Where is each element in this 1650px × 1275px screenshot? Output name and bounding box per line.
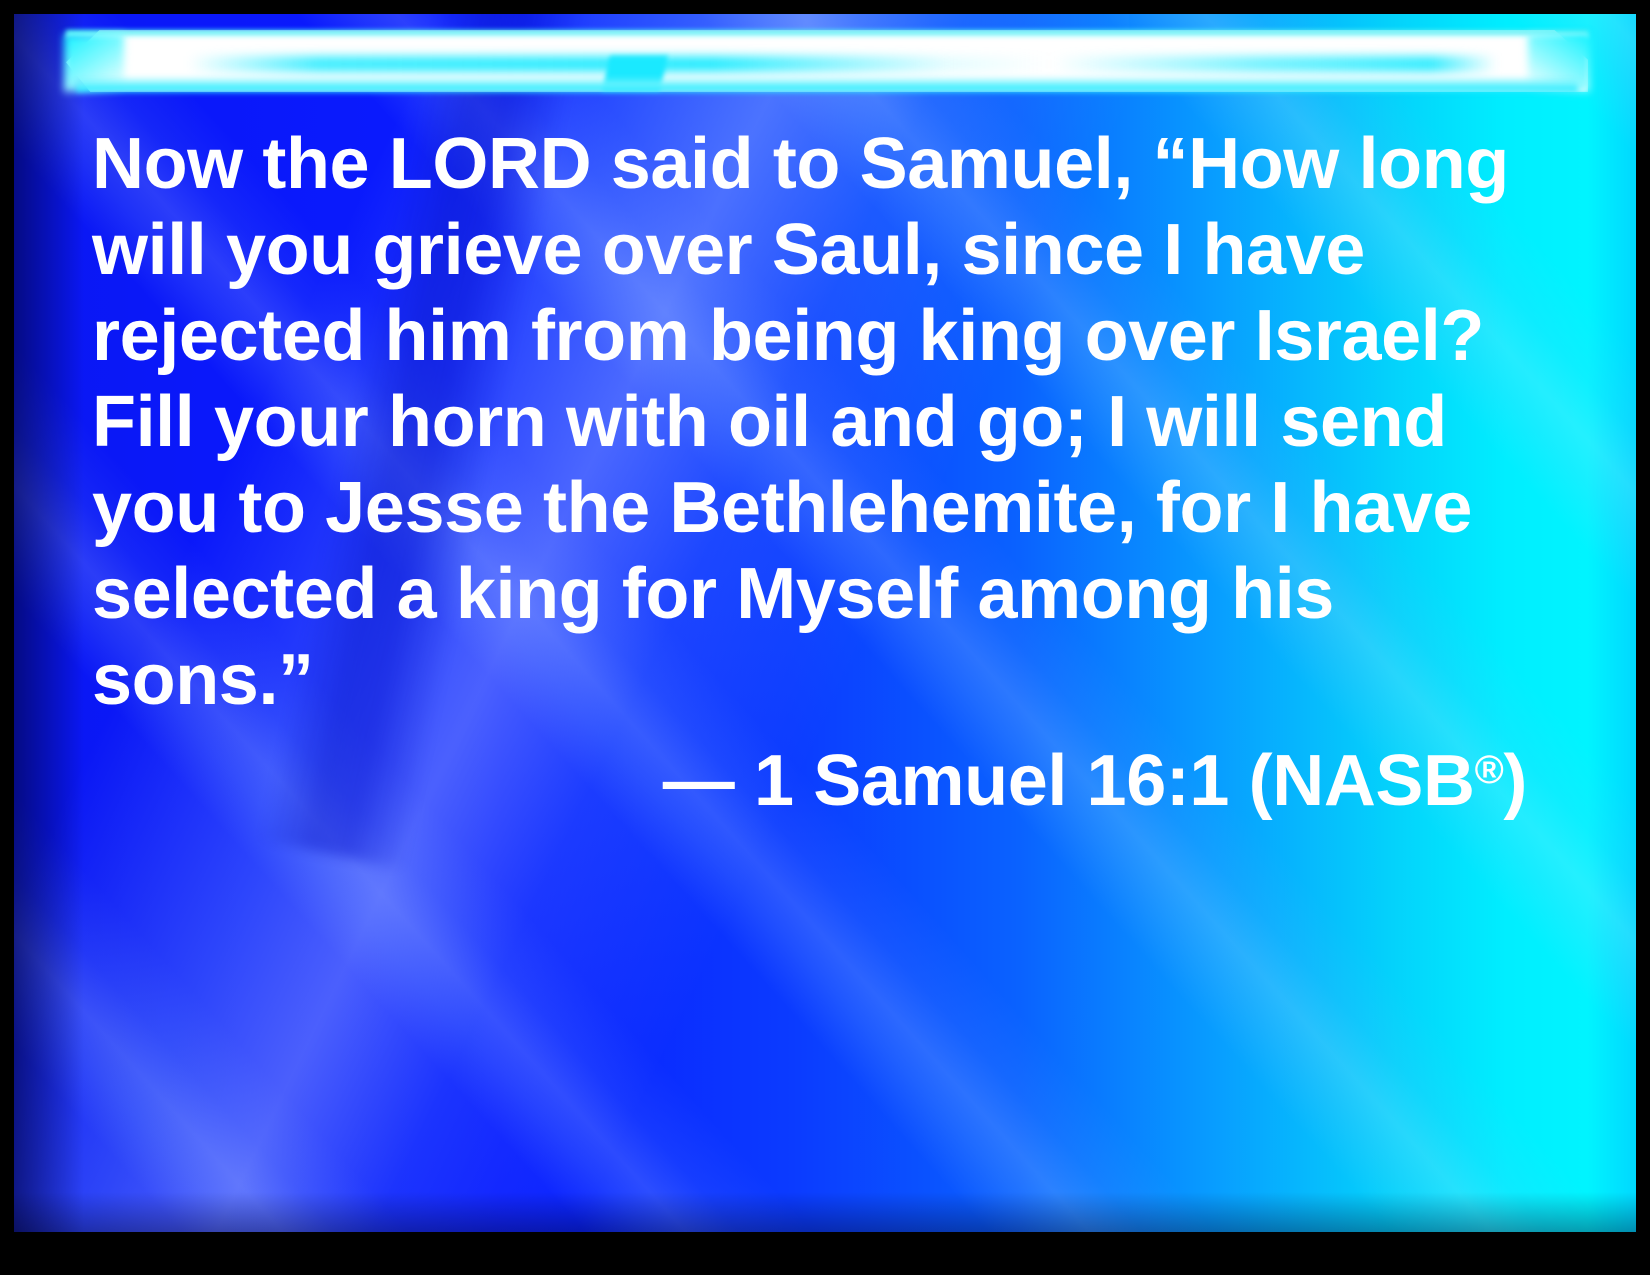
reference-prefix: — 1 Samuel 16:1 (NASB: [663, 741, 1475, 821]
slide-panel: Now the LORD said to Samuel, “How long w…: [14, 14, 1636, 1232]
bible-verse-slide: Now the LORD said to Samuel, “How long w…: [0, 0, 1650, 1275]
reference-suffix: ): [1503, 741, 1527, 821]
registered-trademark-icon: ®: [1475, 748, 1504, 792]
verse-reference: — 1 Samuel 16:1 (NASB®): [92, 727, 1527, 824]
verse-text: Now the LORD said to Samuel, “How long w…: [92, 121, 1532, 723]
text-layer: Now the LORD said to Samuel, “How long w…: [14, 14, 1636, 1232]
